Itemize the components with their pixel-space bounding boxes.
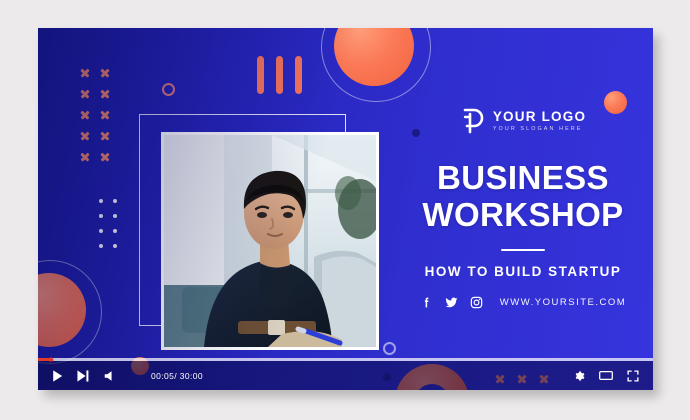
volume-icon[interactable]: [103, 370, 115, 382]
orange-bar-decoration: [257, 56, 264, 94]
arc-ring-decoration: [38, 260, 102, 364]
time-display: 00:05/ 30:00: [151, 371, 203, 381]
orange-bar-decoration: [276, 56, 283, 94]
orange-circle-decoration: [38, 273, 86, 347]
twitter-icon[interactable]: [444, 296, 459, 309]
logo-slogan: YOUR SLOGAN HERE: [493, 127, 586, 132]
p-monogram-icon: [460, 108, 484, 134]
page-title: BUSINESS WORKSHOP: [398, 160, 648, 234]
orange-bar-decoration: [295, 56, 302, 94]
headline-line-1: BUSINESS: [398, 160, 648, 197]
dot-pattern-decoration: [99, 199, 127, 259]
logo-lockup[interactable]: YOUR LOGO YOUR SLOGAN HERE: [398, 108, 648, 134]
fullscreen-icon[interactable]: [627, 370, 639, 382]
logo-title: YOUR LOGO: [493, 110, 586, 124]
orange-circle-decoration: [334, 28, 414, 86]
video-thumbnail-card[interactable]: YOUR LOGO YOUR SLOGAN HERE BUSINESS WORK…: [38, 28, 653, 390]
miniplayer-icon[interactable]: [599, 370, 613, 381]
instagram-icon[interactable]: [470, 296, 483, 309]
headline-line-2: WORKSHOP: [398, 197, 648, 234]
small-ring-decoration: [162, 83, 175, 96]
hero-content: YOUR LOGO YOUR SLOGAN HERE BUSINESS WORK…: [398, 108, 648, 309]
gear-icon[interactable]: [573, 370, 585, 382]
title-divider: [501, 249, 545, 251]
small-ring-decoration: [383, 342, 396, 355]
x-pattern-decoration: [78, 66, 118, 171]
website-url[interactable]: WWW.YOURSITE.COM: [500, 297, 626, 308]
subtitle: HOW TO BUILD STARTUP: [398, 264, 648, 279]
play-icon[interactable]: [52, 370, 63, 382]
arc-ring-decoration: [321, 28, 431, 102]
speaker-photo: [161, 132, 379, 350]
player-controls: 00:05/ 30:00: [38, 361, 653, 390]
arc-ring-decoration: [312, 28, 440, 110]
facebook-icon[interactable]: [420, 296, 433, 309]
social-links: WWW.YOURSITE.COM: [398, 296, 648, 309]
screenshot-stage: YOUR LOGO YOUR SLOGAN HERE BUSINESS WORK…: [0, 0, 690, 420]
next-track-icon[interactable]: [77, 370, 89, 382]
